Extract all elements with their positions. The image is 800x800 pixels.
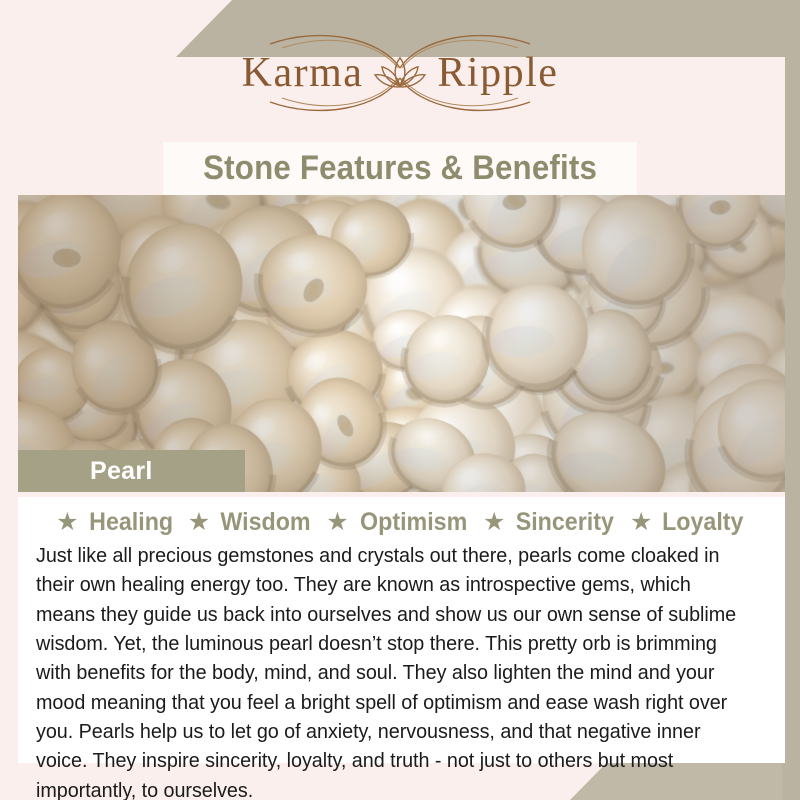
keyword-label: Healing — [89, 508, 173, 537]
keyword-item: ★ Loyalty — [630, 508, 747, 537]
logo-word-right: Ripple — [437, 52, 558, 94]
stone-photo — [18, 195, 785, 492]
keyword-item: ★ Wisdom — [188, 508, 314, 537]
keyword-list: ★ Healing ★ Wisdom ★ Optimism ★ Sincerit… — [18, 497, 785, 537]
star-icon: ★ — [56, 510, 78, 535]
keyword-label: Optimism — [360, 508, 467, 537]
pearl-photo-canvas — [18, 195, 785, 492]
keyword-item: ★ Optimism — [326, 508, 471, 537]
section-title-panel: Stone Features & Benefits — [163, 142, 637, 195]
brand-logo: Karma Ripple — [0, 28, 800, 118]
keyword-item: ★ Healing — [56, 508, 176, 537]
keyword-label: Sincerity — [516, 508, 614, 537]
star-icon: ★ — [188, 510, 210, 535]
star-icon: ★ — [483, 510, 505, 535]
logo-word-left: Karma — [242, 52, 364, 94]
stone-name-label: Pearl — [90, 457, 153, 486]
page-title: Stone Features & Benefits — [203, 149, 597, 188]
lotus-icon — [371, 54, 429, 94]
keyword-label: Loyalty — [662, 508, 743, 537]
stone-name-banner: Pearl — [18, 450, 245, 492]
keyword-item: ★ Sincerity — [483, 508, 618, 537]
content-panel: ★ Healing ★ Wisdom ★ Optimism ★ Sincerit… — [18, 497, 785, 763]
infographic-page: Karma Ripple Stone Features & Benefits P… — [0, 0, 800, 800]
keyword-label: Wisdom — [221, 508, 311, 537]
star-icon: ★ — [326, 510, 348, 535]
star-icon: ★ — [630, 510, 652, 535]
stone-description: Just like all precious gemstones and cry… — [36, 541, 741, 800]
